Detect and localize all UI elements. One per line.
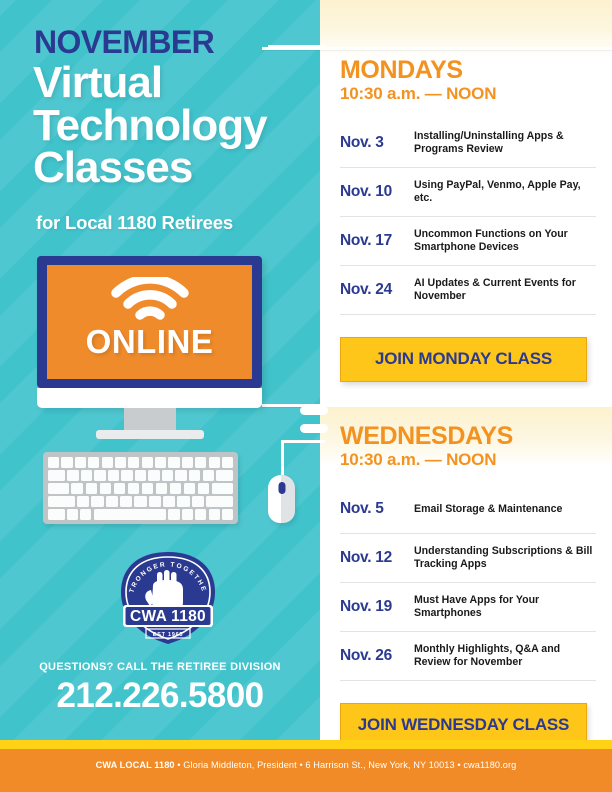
page-subtitle: for Local 1180 Retirees [36,212,233,234]
schedule-time: 10:30 a.m. — NOON [340,451,596,469]
table-row: Nov. 3 Installing/Uninstalling Apps & Pr… [340,119,596,168]
table-row: Nov. 24 AI Updates & Current Events for … [340,266,596,315]
page-title-line-2: Technology [33,105,313,148]
page-title-line-1: Virtual [33,62,313,105]
schedule-day-heading: MONDAYS [340,58,596,84]
table-row: Nov. 12 Understanding Subscriptions & Bi… [340,534,596,583]
panel-connector-notch-bottom [300,424,328,433]
row-date: Nov. 17 [340,232,414,250]
row-topic: AI Updates & Current Events for November [414,277,596,304]
schedule-block-wednesdays: WEDNESDAYS 10:30 a.m. — NOON Nov. 5 Emai… [340,424,596,748]
keyboard-row [48,457,233,468]
mouse-cord-vertical [281,440,284,476]
page-title-line-3: Classes [33,147,313,190]
schedule-day-heading: WEDNESDAYS [340,424,596,450]
footer-org-name: CWA LOCAL 1180 [96,760,175,770]
keyboard-row [48,509,233,520]
keyboard-row [48,483,233,494]
footer-details: • Gloria Middleton, President • 6 Harris… [175,760,517,770]
poster-root: NOVEMBER Virtual Technology Classes for … [0,0,612,792]
cwa-1180-logo: STRONGER TOGETHER CWA 1180 EST 1965 [113,550,223,648]
row-topic: Must Have Apps for Your Smartphones [414,594,596,621]
table-row: Nov. 26 Monthly Highlights, Q&A and Revi… [340,632,596,681]
table-row: Nov. 10 Using PayPal, Venmo, Apple Pay, … [340,168,596,217]
footer-yellow-bar [0,740,612,749]
join-monday-class-button[interactable]: JOIN MONDAY CLASS [340,337,587,382]
monday-divider-line [262,47,612,50]
panel-connector-notch-top [300,406,328,415]
schedule-rows: Nov. 5 Email Storage & Maintenance Nov. … [340,485,596,681]
schedule-block-mondays: MONDAYS 10:30 a.m. — NOON Nov. 3 Install… [340,58,596,382]
monitor-lower-bezel [37,388,262,408]
monitor-base [96,430,204,439]
keyboard-row [48,470,233,481]
row-date: Nov. 12 [340,549,414,567]
mouse-cord-horizontal [281,440,325,443]
row-topic: Uncommon Functions on Your Smartphone De… [414,228,596,255]
row-topic: Understanding Subscriptions & Bill Track… [414,545,596,572]
row-date: Nov. 24 [340,281,414,299]
row-date: Nov. 10 [340,183,414,201]
keyboard-graphic [43,452,238,524]
row-date: Nov. 26 [340,647,414,665]
page-kicker-month: NOVEMBER [34,26,214,58]
mouse-scroll-wheel [278,482,285,494]
monitor-stand [124,408,176,432]
monitor-graphic: ONLINE [37,256,262,388]
row-topic: Using PayPal, Venmo, Apple Pay, etc. [414,179,596,206]
kicker-rule [268,45,326,47]
schedule-time: 10:30 a.m. — NOON [340,85,596,103]
footer-orange-bar [0,749,612,792]
logo-name: CWA 1180 [130,608,206,625]
table-row: Nov. 5 Email Storage & Maintenance [340,485,596,534]
schedule-rows: Nov. 3 Installing/Uninstalling Apps & Pr… [340,119,596,315]
table-row: Nov. 19 Must Have Apps for Your Smartpho… [340,583,596,632]
keyboard-row [48,496,233,507]
monitor-screen: ONLINE [47,265,252,379]
retiree-division-phone[interactable]: 212.226.5800 [0,676,320,716]
row-topic: Monthly Highlights, Q&A and Review for N… [414,643,596,670]
row-topic: Installing/Uninstalling Apps & Programs … [414,130,596,157]
mouse-graphic [268,475,295,523]
row-date: Nov. 5 [340,500,414,518]
row-date: Nov. 3 [340,134,414,152]
questions-label: QUESTIONS? CALL THE RETIREE DIVISION [0,661,320,673]
footer-contact-line: CWA LOCAL 1180 • Gloria Middleton, Presi… [0,760,612,770]
page-title: Virtual Technology Classes [33,62,313,190]
table-row: Nov. 17 Uncommon Functions on Your Smart… [340,217,596,266]
monitor-screen-label: ONLINE [47,323,252,361]
row-date: Nov. 19 [340,598,414,616]
row-topic: Email Storage & Maintenance [414,503,596,517]
wifi-icon [111,277,189,328]
logo-established: EST 1965 [153,632,183,638]
